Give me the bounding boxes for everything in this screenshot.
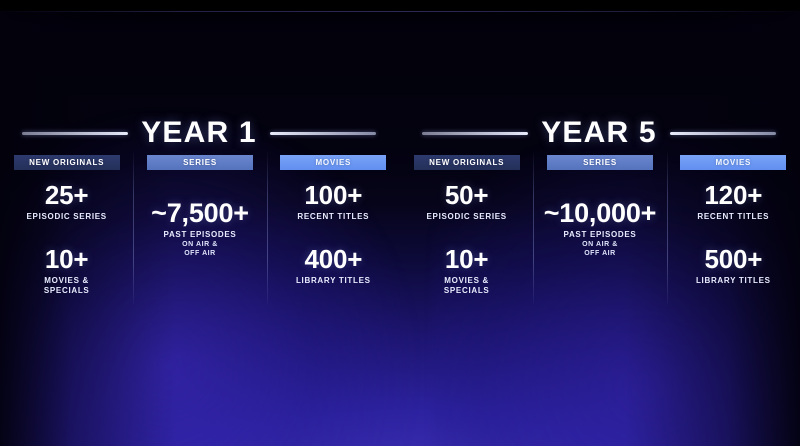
stat-value: 10+ — [44, 246, 90, 273]
stat-column-series: SERIES~10,000+PAST EPISODESON AIR &OFF A… — [533, 155, 666, 305]
year-title: YEAR 1 — [141, 118, 257, 148]
stat-label: EPISODIC SERIES — [27, 212, 107, 223]
stat-item: 10+MOVIES &SPECIALS — [444, 246, 490, 297]
stat-item: 500+LIBRARY TITLES — [696, 246, 771, 287]
stat-item: ~7,500+PAST EPISODESON AIR &OFF AIR — [151, 199, 249, 259]
stat-item: 50+EPISODIC SERIES — [427, 182, 507, 223]
stat-column-series: SERIES~7,500+PAST EPISODESON AIR &OFF AI… — [133, 155, 266, 305]
stat-item: 120+RECENT TITLES — [697, 182, 769, 223]
stat-sublabel: ON AIR &OFF AIR — [544, 240, 657, 258]
category-bar-movies[interactable]: MOVIES — [280, 155, 386, 170]
stat-list: 120+RECENT TITLES500+LIBRARY TITLES — [667, 170, 800, 305]
stat-label: LIBRARY TITLES — [696, 276, 771, 287]
stat-list: ~10,000+PAST EPISODESON AIR &OFF AIR — [533, 170, 666, 305]
stat-value: ~7,500+ — [151, 199, 249, 227]
stat-list: 50+EPISODIC SERIES10+MOVIES &SPECIALS — [400, 170, 533, 305]
stat-item: 100+RECENT TITLES — [297, 182, 369, 223]
stat-label: RECENT TITLES — [697, 212, 769, 223]
category-bar-new-originals[interactable]: NEW ORIGINALS — [14, 155, 120, 170]
infographic-content: YEAR 1NEW ORIGINALS25+EPISODIC SERIES10+… — [0, 0, 800, 446]
year-rule-left — [422, 132, 528, 135]
stat-value: 10+ — [444, 246, 490, 273]
stat-label: RECENT TITLES — [297, 212, 369, 223]
stat-value: ~10,000+ — [544, 199, 657, 227]
stat-value: 400+ — [296, 246, 371, 273]
stat-column-movies: MOVIES100+RECENT TITLES400+LIBRARY TITLE… — [267, 155, 400, 305]
stat-column-new-originals: NEW ORIGINALS50+EPISODIC SERIES10+MOVIES… — [400, 155, 533, 305]
stat-value: 120+ — [697, 182, 769, 209]
stat-label: MOVIES &SPECIALS — [444, 276, 490, 297]
stat-item: 10+MOVIES &SPECIALS — [44, 246, 90, 297]
stat-value: 500+ — [696, 246, 771, 273]
category-bar-movies[interactable]: MOVIES — [680, 155, 786, 170]
year-heading-row: YEAR 5 — [422, 118, 776, 148]
stat-sublabel: ON AIR &OFF AIR — [151, 240, 249, 258]
letterbox-bar-top — [0, 0, 800, 11]
stat-item: 25+EPISODIC SERIES — [27, 182, 107, 223]
stat-label: MOVIES &SPECIALS — [44, 276, 90, 297]
stat-column-new-originals: NEW ORIGINALS25+EPISODIC SERIES10+MOVIES… — [0, 155, 133, 305]
stat-list: ~7,500+PAST EPISODESON AIR &OFF AIR — [133, 170, 266, 305]
category-bar-series[interactable]: SERIES — [147, 155, 253, 170]
stat-label: PAST EPISODES — [544, 230, 657, 241]
stat-list: 100+RECENT TITLES400+LIBRARY TITLES — [267, 170, 400, 305]
stat-item: ~10,000+PAST EPISODESON AIR &OFF AIR — [544, 199, 657, 259]
stat-column-group: NEW ORIGINALS25+EPISODIC SERIES10+MOVIES… — [0, 155, 400, 305]
stat-label: EPISODIC SERIES — [427, 212, 507, 223]
year-rule-left — [22, 132, 128, 135]
stat-list: 25+EPISODIC SERIES10+MOVIES &SPECIALS — [0, 170, 133, 305]
stat-value: 100+ — [297, 182, 369, 209]
stat-label: PAST EPISODES — [151, 230, 249, 241]
year-rule-right — [270, 132, 376, 135]
stat-column-movies: MOVIES120+RECENT TITLES500+LIBRARY TITLE… — [667, 155, 800, 305]
stat-column-group: NEW ORIGINALS50+EPISODIC SERIES10+MOVIES… — [400, 155, 800, 305]
stat-value: 25+ — [27, 182, 107, 209]
stat-value: 50+ — [427, 182, 507, 209]
category-bar-new-originals[interactable]: NEW ORIGINALS — [414, 155, 520, 170]
stat-label: LIBRARY TITLES — [296, 276, 371, 287]
stat-item: 400+LIBRARY TITLES — [296, 246, 371, 287]
year-rule-right — [670, 132, 776, 135]
year-heading-row: YEAR 1 — [22, 118, 376, 148]
year-title: YEAR 5 — [541, 118, 657, 148]
section-year-5: YEAR 5NEW ORIGINALS50+EPISODIC SERIES10+… — [400, 0, 800, 446]
category-bar-series[interactable]: SERIES — [547, 155, 653, 170]
infographic-stage: YEAR 1NEW ORIGINALS25+EPISODIC SERIES10+… — [0, 0, 800, 446]
section-year-1: YEAR 1NEW ORIGINALS25+EPISODIC SERIES10+… — [0, 0, 400, 446]
